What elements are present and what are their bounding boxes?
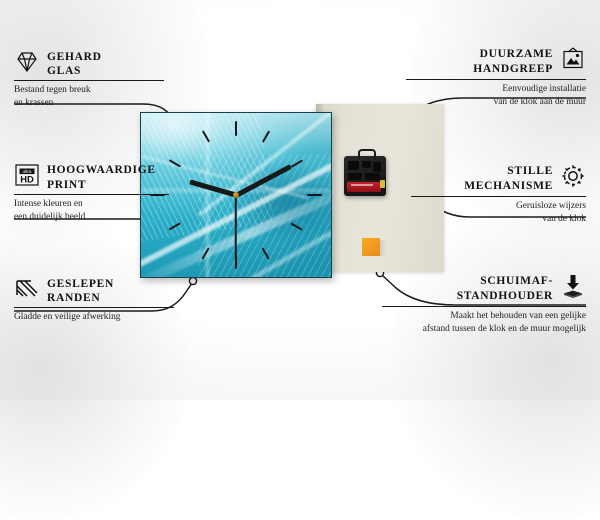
second-hand (235, 195, 237, 261)
callout-title: DUURZAME (473, 47, 553, 61)
hour-tick (291, 160, 303, 168)
hour-tick (307, 194, 322, 196)
callout-title: GESLEPEN (47, 277, 114, 291)
hour-tick (235, 121, 237, 136)
press-down-arrow-icon (560, 273, 586, 304)
callout-description: Intense kleuren en (14, 198, 169, 211)
movement-slot (348, 173, 362, 180)
ultra-hd-icon: ultra HD (14, 163, 40, 192)
movement-slot (373, 162, 381, 172)
callout-divider (14, 194, 169, 195)
diamond-icon (14, 51, 40, 78)
minute-hand (235, 164, 292, 197)
diagonal-lines-icon (14, 278, 40, 305)
framed-picture-icon (560, 46, 586, 77)
callout-title: STANDHOUDER (457, 289, 553, 303)
hour-tick (169, 223, 181, 231)
callout-title: MECHANISME (464, 179, 553, 193)
hour-tick (262, 247, 270, 259)
callout-divider (14, 307, 174, 308)
callout-title: SCHUIMAF- (457, 274, 553, 288)
movement-slot (365, 173, 380, 180)
callout-title: HOOGWAARDIGE (47, 163, 156, 177)
callout-description: Geruisloze wijzers (411, 200, 586, 213)
callout-description: een duidelijk beeld (14, 211, 169, 224)
callout-duurzame-handgreep: DUURZAME HANDGREEP Eenvoudige installati… (406, 46, 586, 108)
hour-tick (202, 130, 210, 142)
hour-tick (262, 130, 270, 142)
callout-description: Gladde en veilige afwerking (14, 311, 174, 324)
hour-tick (291, 223, 303, 231)
callout-schuimaf-standhouder: SCHUIMAF- STANDHOUDER Maakt het behouden… (382, 273, 586, 335)
callout-title: PRINT (47, 178, 156, 192)
callout-divider (14, 80, 164, 81)
callout-title: HANDGREEP (473, 62, 553, 76)
callout-geslepen-randen: GESLEPEN RANDEN Gladde en veilige afwerk… (14, 277, 174, 324)
foam-spacer-pad (362, 238, 380, 256)
movement-slot (362, 161, 371, 168)
battery-positive-terminal (380, 180, 385, 188)
hour-tick (202, 247, 210, 259)
callout-divider (406, 79, 586, 80)
callout-title: GLAS (47, 64, 102, 78)
callout-title: STILLE (464, 164, 553, 178)
hour-tick (169, 160, 181, 168)
callout-description: afstand tussen de klok en de muur mogeli… (382, 323, 586, 336)
movement-slot (348, 161, 359, 170)
callout-stille-mechanisme: STILLE MECHANISME Geruisloze wijzers van… (411, 163, 586, 225)
hanging-loop (358, 149, 376, 160)
callout-title: GEHARD (47, 50, 102, 64)
callout-description: Bestand tegen breuk (14, 84, 164, 97)
battery-label-stripe (351, 184, 373, 186)
brass-center-cap (233, 192, 239, 198)
callout-hoogwaardige-print: ultra HD HOOGWAARDIGE PRINT Intense kleu… (14, 163, 169, 223)
callout-divider (411, 196, 586, 197)
hour-hand (189, 180, 236, 198)
callout-description: van de klok (411, 213, 586, 226)
callout-description: Eenvoudige installatie (406, 83, 586, 96)
svg-text:HD: HD (20, 173, 34, 184)
infographic-canvas: GEHARD GLAS Bestand tegen breuk en krass… (0, 0, 600, 400)
callout-title: RANDEN (47, 291, 114, 305)
product-image (140, 92, 390, 284)
aa-battery (347, 182, 381, 192)
callout-description: Maakt het behouden van een gelijke (382, 310, 586, 323)
callout-gehard-glas: GEHARD GLAS Bestand tegen breuk en krass… (14, 50, 164, 109)
quartz-movement (344, 156, 386, 196)
callout-description: en krassen (14, 97, 164, 110)
callout-divider (382, 306, 586, 307)
clock-dial (141, 113, 331, 277)
gear-icon (560, 163, 586, 194)
callout-description: van de klok aan de muur (406, 96, 586, 109)
